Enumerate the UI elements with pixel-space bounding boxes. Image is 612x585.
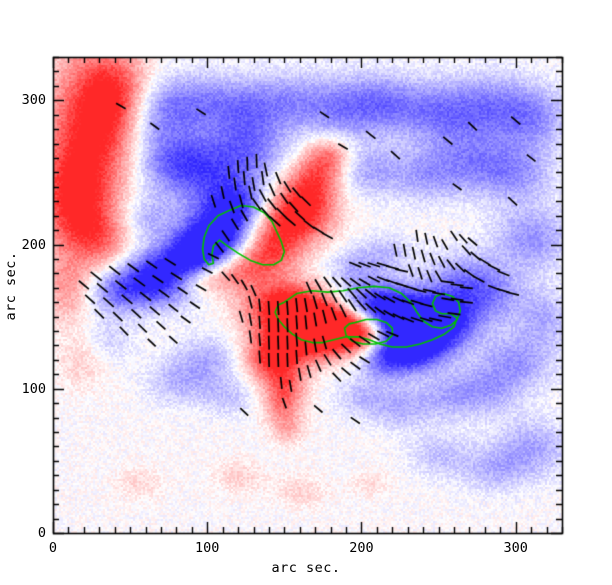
y-tick-label: 100 bbox=[6, 381, 46, 397]
magnetogram-plot-canvas bbox=[0, 0, 612, 585]
figure-root: Solar Flare Telescope (MTK) : vector mag… bbox=[0, 0, 612, 585]
x-tick-label: 100 bbox=[195, 540, 219, 556]
y-axis-title: arc sec. bbox=[3, 251, 19, 321]
x-axis-title: arc sec. bbox=[0, 560, 612, 576]
y-tick-label: 0 bbox=[6, 525, 46, 541]
y-tick-label: 300 bbox=[6, 92, 46, 108]
x-tick-label: 300 bbox=[504, 540, 528, 556]
x-tick-label: 0 bbox=[49, 540, 57, 556]
x-tick-label: 200 bbox=[349, 540, 373, 556]
